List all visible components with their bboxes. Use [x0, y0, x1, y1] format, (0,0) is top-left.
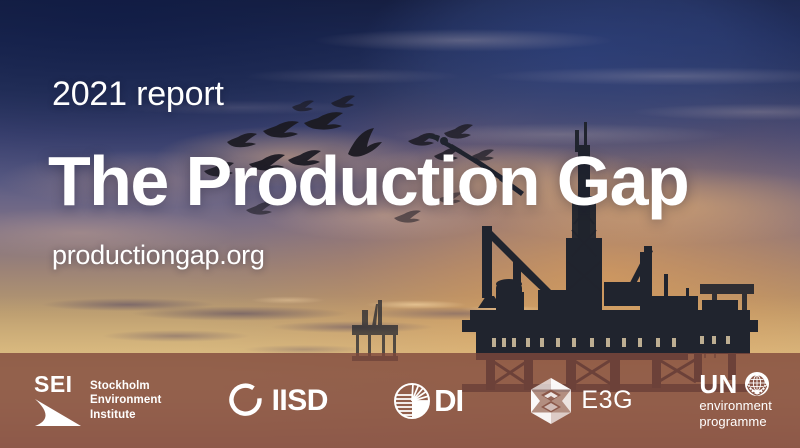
logo-odi[interactable]: DI — [394, 383, 463, 419]
iisd-broken-circle-mark-icon — [228, 383, 264, 419]
sei-full-name: Stockholm Environment Institute — [90, 379, 161, 421]
logo-iisd[interactable]: IISD — [228, 383, 328, 419]
odi-segmented-circle-mark-icon — [394, 383, 430, 419]
sei-mark-group: SEI — [34, 373, 82, 428]
logo-e3g[interactable]: E3G — [529, 377, 633, 425]
report-year-label: 2021 report — [52, 77, 224, 111]
sei-name-line-1: Stockholm — [90, 379, 161, 393]
website-url-link[interactable]: productiongap.org — [52, 242, 265, 269]
logo-sei[interactable]: SEI Stockholm Environment Institute — [34, 373, 161, 428]
sei-name-line-3: Institute — [90, 408, 161, 422]
unep-top-row: UN — [699, 371, 772, 397]
unep-lockup: UN — [699, 371, 772, 429]
sei-wordmark: SEI — [34, 373, 82, 396]
sei-name-line-2: Environment — [90, 393, 161, 407]
sei-sail-mark-icon — [34, 398, 82, 428]
un-emblem-icon — [744, 371, 770, 397]
partner-logo-bar: SEI Stockholm Environment Institute IISD — [0, 353, 800, 448]
e3g-hexagon-mark-icon — [529, 377, 573, 425]
odi-wordmark: DI — [434, 385, 463, 416]
page-title: The Production Gap — [48, 146, 688, 216]
unep-wordmark: UN — [699, 371, 737, 397]
unep-sub-line-1: environment — [699, 398, 772, 414]
unep-subtitle: environment programme — [699, 398, 772, 429]
unep-sub-line-2: programme — [699, 414, 772, 430]
iisd-wordmark: IISD — [272, 386, 328, 416]
logo-unep[interactable]: UN — [699, 371, 772, 429]
production-gap-report-banner: 2021 report The Production Gap productio… — [0, 0, 800, 448]
e3g-wordmark: E3G — [581, 388, 633, 413]
